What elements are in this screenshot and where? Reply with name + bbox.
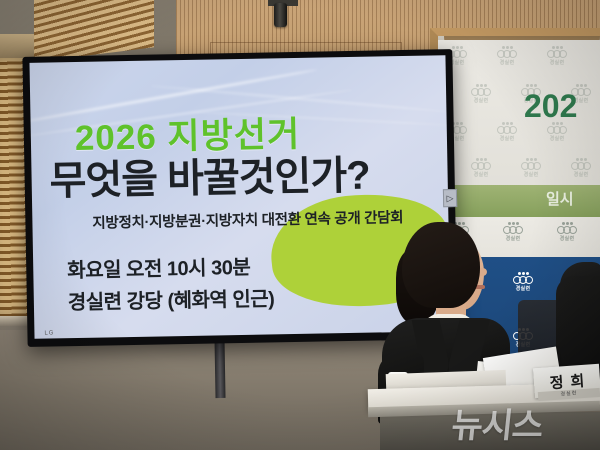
logo-rings xyxy=(544,126,570,134)
ceiling-spotlight-icon xyxy=(274,3,287,27)
placard-char-2: 희 xyxy=(570,369,585,391)
logo-rings xyxy=(568,162,594,170)
logo-label: 경실련 xyxy=(568,171,594,178)
org-logo-icon: 경실련 xyxy=(568,158,594,178)
logo-dots xyxy=(494,46,520,49)
logo-label: 경실련 xyxy=(468,171,494,178)
primary-hair xyxy=(402,222,480,308)
logo-rings xyxy=(494,126,520,134)
org-logo-icon: 경실련 xyxy=(554,222,580,242)
slide-headline: 무엇을 바꿀것인가? xyxy=(49,143,370,207)
org-logo-icon: 경실련 xyxy=(544,46,570,66)
logo-dots xyxy=(568,158,594,161)
backdrop-datetime-label: 일시 xyxy=(546,188,574,209)
logo-rings xyxy=(510,276,536,284)
logo-label: 경실련 xyxy=(494,59,520,66)
org-logo-icon: 경실련 xyxy=(468,158,494,178)
chevron-right-icon[interactable]: ▷ xyxy=(443,189,457,207)
slide-time-line: 화요일 오전 10시 30분 xyxy=(67,251,250,283)
table-underside xyxy=(380,412,600,450)
logo-rings xyxy=(468,162,494,170)
placard-char-1: 정 xyxy=(549,371,564,393)
org-logo-icon: 경실련 xyxy=(468,84,494,104)
logo-label: 경실련 xyxy=(544,135,570,142)
logo-rings xyxy=(554,226,580,234)
logo-dots xyxy=(510,272,536,275)
org-logo-icon: 경실련 xyxy=(510,272,536,292)
logo-label: 경실련 xyxy=(494,135,520,142)
logo-dots xyxy=(518,158,544,161)
logo-dots xyxy=(468,84,494,87)
logo-dots xyxy=(554,222,580,225)
logo-rings xyxy=(544,50,570,58)
logo-dots xyxy=(494,122,520,125)
tv-brand-label: LG xyxy=(44,330,54,336)
logo-dots xyxy=(544,46,570,49)
logo-rings xyxy=(468,88,494,96)
slide-subtitle: 지방정치·지방분권·지방자치 대전환 연속 공개 간담회 xyxy=(92,206,403,233)
backdrop-year-text: 202 xyxy=(524,88,577,125)
logo-rings xyxy=(494,50,520,58)
logo-label: 경실련 xyxy=(468,97,494,104)
slide-place-line: 경실련 강당 (혜화역 인근) xyxy=(68,282,275,315)
org-logo-icon: 경실련 xyxy=(494,46,520,66)
logo-label: 경실련 xyxy=(518,171,544,178)
logo-label: 경실련 xyxy=(554,235,580,242)
org-logo-icon: 경실련 xyxy=(518,158,544,178)
logo-label: 경실련 xyxy=(544,59,570,66)
logo-dots xyxy=(568,84,594,87)
backdrop-green-band xyxy=(438,185,600,217)
logo-dots xyxy=(468,158,494,161)
logo-label: 경실련 xyxy=(510,285,536,292)
logo-dots xyxy=(518,84,544,87)
logo-rings xyxy=(518,162,544,170)
photo-scene: 경실련경실련경실련경실련경실련경실련경실련경실련경실련경실련경실련경실련 경실련… xyxy=(0,0,600,450)
tv-stand xyxy=(214,338,225,398)
org-logo-icon: 경실련 xyxy=(544,122,570,142)
org-logo-icon: 경실련 xyxy=(494,122,520,142)
